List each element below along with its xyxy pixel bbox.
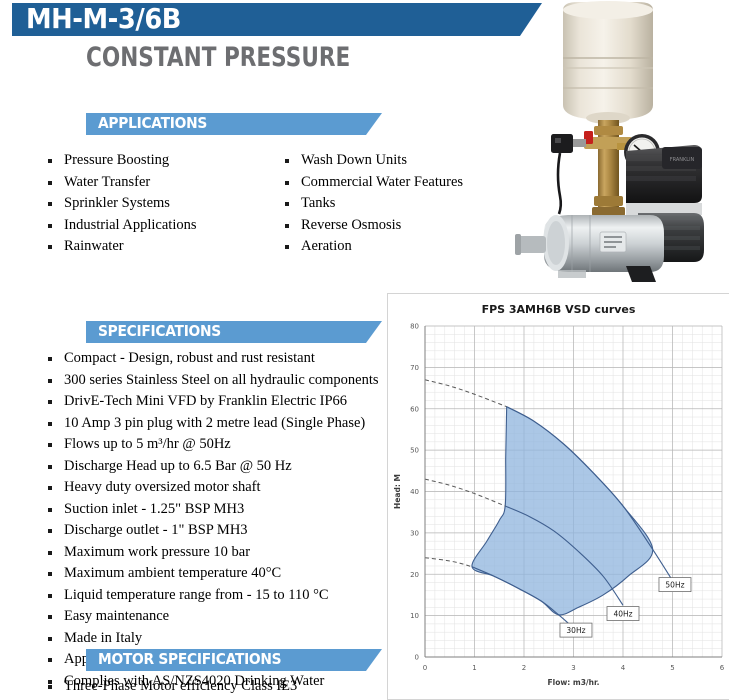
list-item: Industrial Applications [44, 215, 197, 237]
list-item: Heavy duty oversized motor shaft [44, 477, 379, 499]
svg-text:40: 40 [410, 488, 419, 496]
svg-text:30Hz: 30Hz [566, 626, 585, 635]
list-item: Wash Down Units [281, 150, 463, 172]
list-item: Maximum ambient temperature 40°C [44, 563, 379, 585]
motor-specifications-list: Three-Phase Motor efficiency Class IE3 [44, 676, 297, 698]
list-item: Pressure Boosting [44, 150, 197, 172]
vfd-controller-icon: FRANKLIN [626, 145, 702, 215]
vsd-curves-chart: 010203040506070800123456Flow: m3/hr.Head… [388, 294, 729, 700]
list-item: Tanks [281, 193, 463, 215]
svg-text:FRANKLIN: FRANKLIN [670, 157, 695, 163]
svg-text:50Hz: 50Hz [665, 581, 684, 590]
svg-text:70: 70 [410, 364, 419, 372]
applications-label: APPLICATIONS [98, 114, 207, 132]
list-item: Made in Italy [44, 628, 379, 650]
applications-list-left: Pressure Boosting Water Transfer Sprinkl… [44, 150, 197, 258]
svg-text:0: 0 [415, 654, 419, 662]
svg-text:5: 5 [670, 664, 674, 672]
datasheet-page: MH-M-3/6B CONSTANT PRESSURE [0, 0, 729, 700]
list-item: DrivE-Tech Mini VFD by Franklin Electric… [44, 391, 379, 413]
list-item: 300 series Stainless Steel on all hydrau… [44, 370, 379, 392]
svg-text:20: 20 [410, 571, 419, 579]
svg-text:30: 30 [410, 529, 419, 537]
svg-text:Head: M: Head: M [393, 474, 402, 509]
list-item: Water Transfer [44, 172, 197, 194]
svg-text:Flow: m3/hr.: Flow: m3/hr. [548, 678, 600, 687]
ribbon-tip [366, 321, 382, 343]
svg-text:1: 1 [472, 664, 476, 672]
list-item: Discharge outlet - 1" BSP MH3 [44, 520, 379, 542]
list-item: Rainwater [44, 236, 197, 258]
svg-text:6: 6 [720, 664, 725, 672]
svg-text:4: 4 [621, 664, 626, 672]
svg-text:0: 0 [423, 664, 427, 672]
pressure-sensor-icon [551, 134, 586, 214]
svg-text:50: 50 [410, 447, 419, 455]
specifications-list: Compact - Design, robust and rust resist… [44, 348, 379, 692]
list-item: 10 Amp 3 pin plug with 2 metre lead (Sin… [44, 413, 379, 435]
list-item: Maximum work pressure 10 bar [44, 542, 379, 564]
pressure-tank-icon [563, 1, 653, 124]
performance-chart-panel: FPS 3AMH6B VSD curves 010203040506070800… [387, 293, 729, 700]
suction-inlet-icon [518, 236, 546, 253]
list-item: Compact - Design, robust and rust resist… [44, 348, 379, 370]
list-item: Discharge Head up to 6.5 Bar @ 50 Hz [44, 456, 379, 478]
svg-text:10: 10 [410, 612, 419, 620]
list-item: Liquid temperature range from - 15 to 11… [44, 585, 379, 607]
svg-text:3: 3 [571, 664, 575, 672]
specifications-ribbon: SPECIFICATIONS [86, 321, 382, 343]
list-item: Reverse Osmosis [281, 215, 463, 237]
list-item: Suction inlet - 1.25" BSP MH3 [44, 499, 379, 521]
motor-specifications-ribbon: MOTOR SPECIFICATIONS [86, 649, 382, 671]
list-item: Easy maintenance [44, 606, 379, 628]
page-subtitle: CONSTANT PRESSURE [86, 42, 350, 73]
applications-list-right: Wash Down Units Commercial Water Feature… [281, 150, 463, 258]
product-image-pump-assembly: FRANKLIN [498, 0, 729, 290]
ribbon-tip [366, 649, 382, 671]
list-item: Three-Phase Motor efficiency Class IE3 [44, 676, 297, 698]
pump-body-icon [515, 215, 664, 272]
list-item: Aeration [281, 236, 463, 258]
specifications-label: SPECIFICATIONS [98, 322, 221, 340]
page-title: MH-M-3/6B [26, 2, 181, 35]
svg-text:2: 2 [522, 664, 526, 672]
svg-text:80: 80 [410, 323, 419, 331]
ribbon-tip [366, 113, 382, 135]
list-item: Commercial Water Features [281, 172, 463, 194]
svg-text:60: 60 [410, 405, 419, 413]
svg-text:40Hz: 40Hz [613, 610, 632, 619]
applications-ribbon: APPLICATIONS [86, 113, 382, 135]
list-item: Flows up to 5 m³/hr @ 50Hz [44, 434, 379, 456]
list-item: Sprinkler Systems [44, 193, 197, 215]
motor-specifications-label: MOTOR SPECIFICATIONS [98, 650, 281, 668]
